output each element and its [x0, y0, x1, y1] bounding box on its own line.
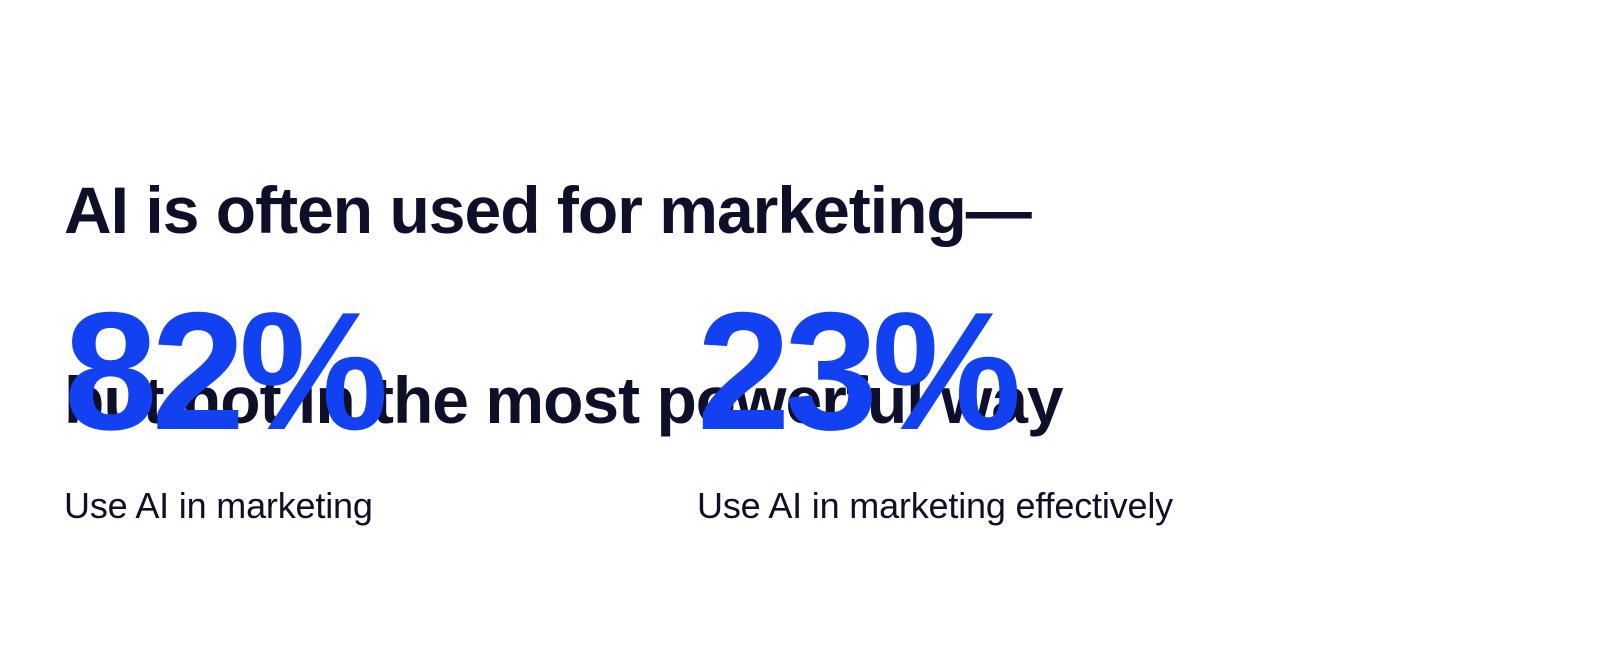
stat-item-use-ai-in-marketing: 82% Use AI in marketing — [64, 296, 697, 528]
headline-line-1: AI is often used for marketing— — [64, 163, 1314, 258]
stat-label-primary: Use AI in marketing — [64, 484, 373, 528]
stat-item-use-ai-in-marketing-effectively: 23% Use AI in marketing effectively — [697, 296, 1173, 528]
stat-label-secondary: Use AI in marketing effectively — [697, 484, 1173, 528]
stat-callout-card: AI is often used for marketing— but not … — [0, 0, 1600, 656]
stat-value-primary: 82% — [64, 296, 383, 446]
stats-row: 82% Use AI in marketing 23% Use AI in ma… — [64, 296, 1524, 528]
stat-value-secondary: 23% — [697, 296, 1016, 446]
